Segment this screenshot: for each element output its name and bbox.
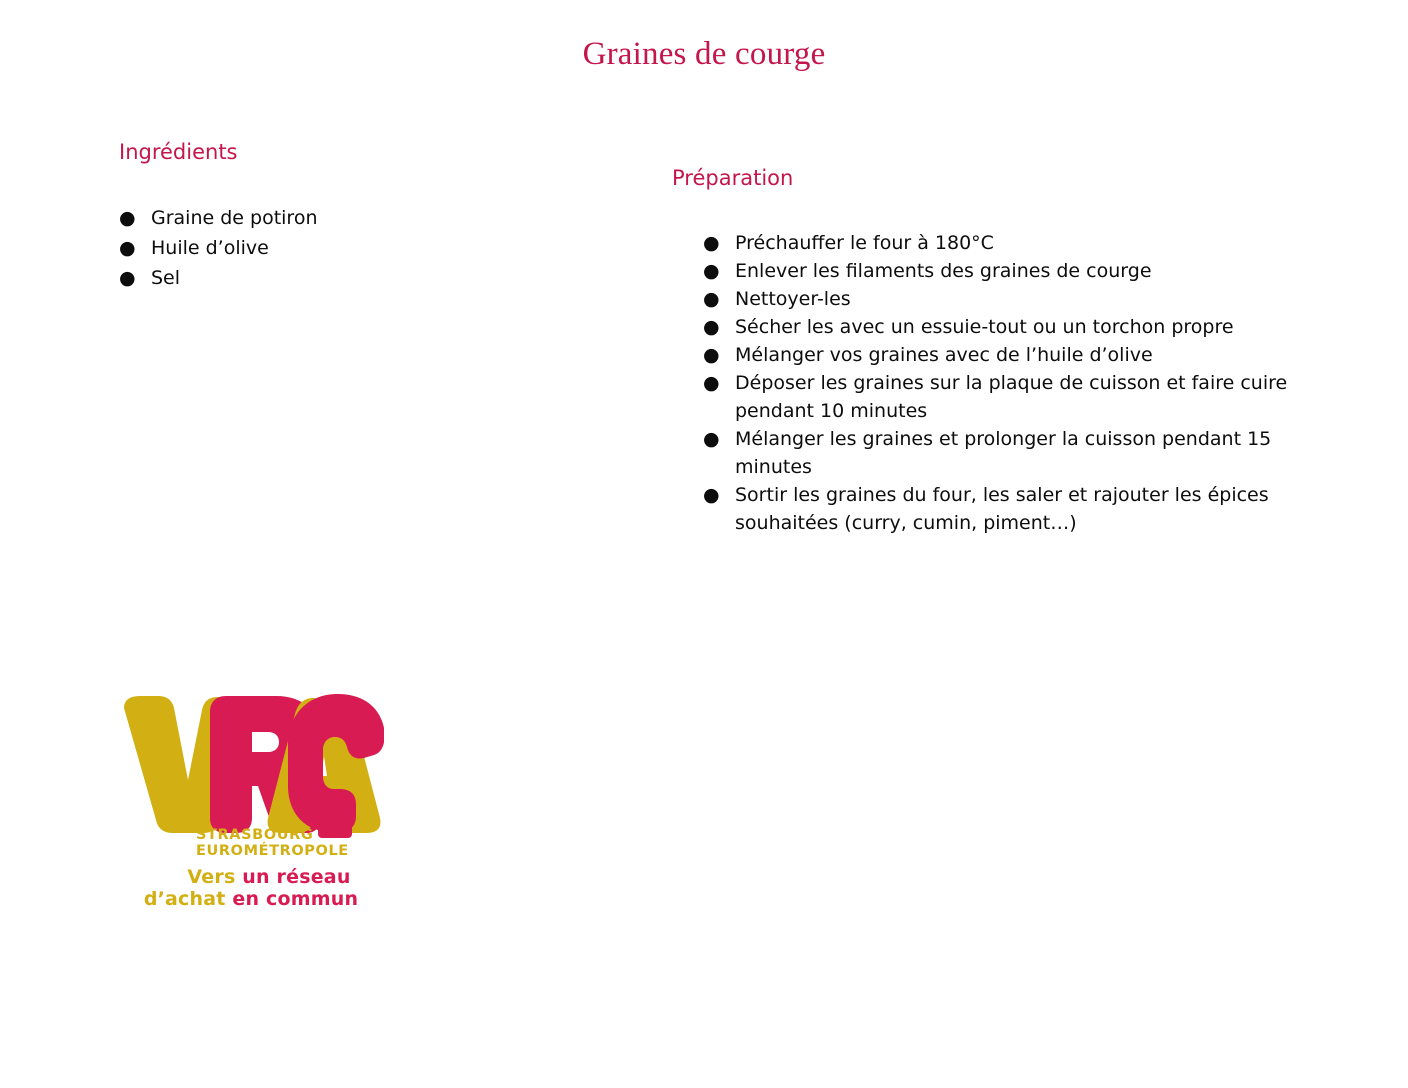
ingredients-list: ● Graine de potiron ● Huile d’olive ● Se… <box>119 203 539 293</box>
preparation-heading: Préparation <box>672 165 793 191</box>
list-item: ● Déposer les graines sur la plaque de c… <box>703 369 1303 425</box>
vrac-tagline-1-pink: un réseau <box>242 866 350 888</box>
list-item-label: Sel <box>151 263 539 293</box>
list-item-label: Sécher les avec un essuie-tout ou un tor… <box>735 313 1303 341</box>
preparation-list: ● Préchauffer le four à 180°C ● Enlever … <box>703 229 1303 537</box>
vrac-wordmark-icon <box>118 694 384 834</box>
list-item: ● Sécher les avec un essuie-tout ou un t… <box>703 313 1303 341</box>
vrac-tagline-line-2: d’achat en commun <box>118 888 384 910</box>
vrac-subtitle-line-1: STRASBOURG <box>196 827 313 843</box>
vrac-tagline-1-yellow: Vers <box>187 866 242 888</box>
list-item: ● Sortir les graines du four, les saler … <box>703 481 1303 537</box>
list-item: ● Mélanger vos graines avec de l’huile d… <box>703 341 1303 369</box>
list-item: ● Préchauffer le four à 180°C <box>703 229 1303 257</box>
ingredients-heading: Ingrédients <box>119 139 238 165</box>
bullet-icon: ● <box>703 257 735 285</box>
bullet-icon: ● <box>703 341 735 369</box>
bullet-icon: ● <box>119 203 151 233</box>
list-item-label: Nettoyer-les <box>735 285 1303 313</box>
bullet-icon: ● <box>703 313 735 341</box>
vrac-tagline-line-1: Vers un réseau <box>118 866 384 888</box>
bullet-icon: ● <box>703 369 735 397</box>
bullet-icon: ● <box>703 285 735 313</box>
list-item-label: Déposer les graines sur la plaque de cui… <box>735 369 1303 425</box>
vrac-subtitle-line-2: EUROMÉTROPOLE <box>196 843 349 859</box>
bullet-icon: ● <box>703 481 735 509</box>
bullet-icon: ● <box>703 229 735 257</box>
list-item: ● Nettoyer-les <box>703 285 1303 313</box>
bullet-icon: ● <box>703 425 735 453</box>
vrac-subtitle: STRASBOURG EUROMÉTROPOLE <box>196 828 386 859</box>
list-item: ● Sel <box>119 263 539 293</box>
document-page: Graines de courge Ingrédients ● Graine d… <box>0 0 1408 1088</box>
page-title: Graines de courge <box>0 34 1408 74</box>
list-item: ● Enlever les filaments des graines de c… <box>703 257 1303 285</box>
vrac-tagline-2-yellow: d’achat <box>144 888 233 910</box>
vrac-tagline: Vers un réseau d’achat en commun <box>118 866 384 910</box>
list-item-label: Huile d’olive <box>151 233 539 263</box>
bullet-icon: ● <box>119 233 151 263</box>
list-item-label: Mélanger les graines et prolonger la cui… <box>735 425 1303 481</box>
list-item: ● Mélanger les graines et prolonger la c… <box>703 425 1303 481</box>
list-item: ● Huile d’olive <box>119 233 539 263</box>
list-item-label: Préchauffer le four à 180°C <box>735 229 1303 257</box>
list-item: ● Graine de potiron <box>119 203 539 233</box>
vrac-logo: STRASBOURG EUROMÉTROPOLE Vers un réseau … <box>118 694 384 916</box>
list-item-label: Graine de potiron <box>151 203 539 233</box>
list-item-label: Sortir les graines du four, les saler et… <box>735 481 1303 537</box>
list-item-label: Mélanger vos graines avec de l’huile d’o… <box>735 341 1303 369</box>
vrac-tagline-2-pink: en commun <box>232 888 358 910</box>
bullet-icon: ● <box>119 263 151 293</box>
list-item-label: Enlever les filaments des graines de cou… <box>735 257 1303 285</box>
